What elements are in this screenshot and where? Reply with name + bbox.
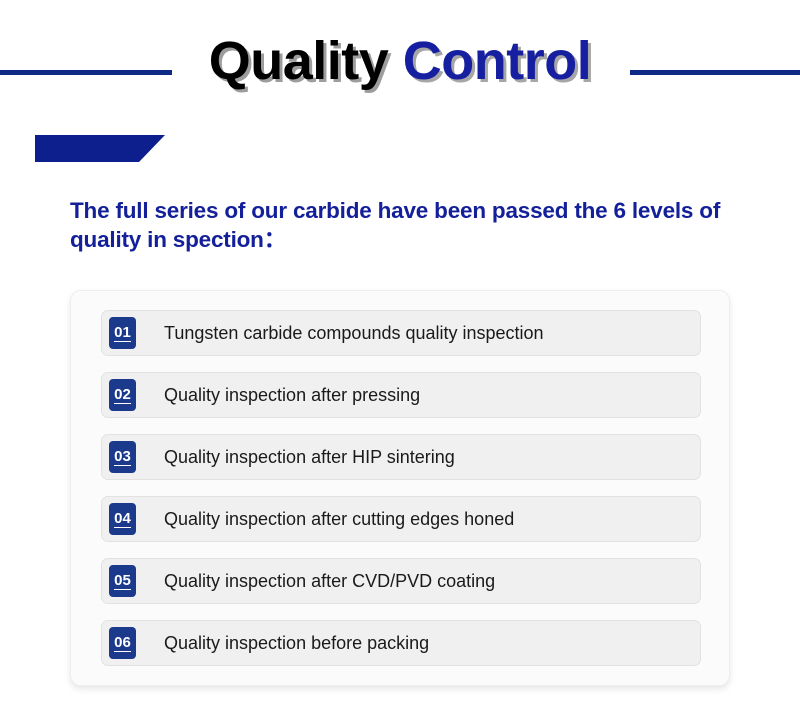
step-number-badge: 04 <box>109 503 136 535</box>
subtitle-text: The full series of our carbide have been… <box>70 196 750 254</box>
step-number: 01 <box>114 325 131 340</box>
step-number: 04 <box>114 511 131 526</box>
list-item[interactable]: 01 Tungsten carbide compounds quality in… <box>101 310 701 356</box>
step-label: Quality inspection after CVD/PVD coating <box>164 570 700 592</box>
page-title: Quality Control <box>0 30 800 92</box>
step-label: Tungsten carbide compounds quality inspe… <box>164 322 700 344</box>
step-number: 05 <box>114 573 131 588</box>
step-label: Quality inspection after pressing <box>164 384 700 406</box>
page-title-word-dark: Quality <box>209 31 389 91</box>
step-label: Quality inspection after cutting edges h… <box>164 508 700 530</box>
page-title-space <box>388 31 403 91</box>
list-item[interactable]: 05 Quality inspection after CVD/PVD coat… <box>101 558 701 604</box>
inspection-steps-list: 01 Tungsten carbide compounds quality in… <box>101 310 701 666</box>
step-label: Quality inspection before packing <box>164 632 700 654</box>
list-item[interactable]: 04 Quality inspection after cutting edge… <box>101 496 701 542</box>
step-number-badge: 01 <box>109 317 136 349</box>
decorative-banner-flag <box>35 135 165 162</box>
step-number-badge: 02 <box>109 379 136 411</box>
list-item[interactable]: 06 Quality inspection before packing <box>101 620 701 666</box>
step-number-badge: 05 <box>109 565 136 597</box>
step-number-badge: 06 <box>109 627 136 659</box>
step-label: Quality inspection after HIP sintering <box>164 446 700 468</box>
step-number: 06 <box>114 635 131 650</box>
page-header: Quality Control <box>0 0 800 120</box>
list-item[interactable]: 03 Quality inspection after HIP sinterin… <box>101 434 701 480</box>
inspection-steps-panel: 01 Tungsten carbide compounds quality in… <box>70 290 730 686</box>
step-number: 02 <box>114 387 131 402</box>
step-number-badge: 03 <box>109 441 136 473</box>
list-item[interactable]: 02 Quality inspection after pressing <box>101 372 701 418</box>
step-number: 03 <box>114 449 131 464</box>
page-title-word-blue: Control <box>403 31 591 91</box>
